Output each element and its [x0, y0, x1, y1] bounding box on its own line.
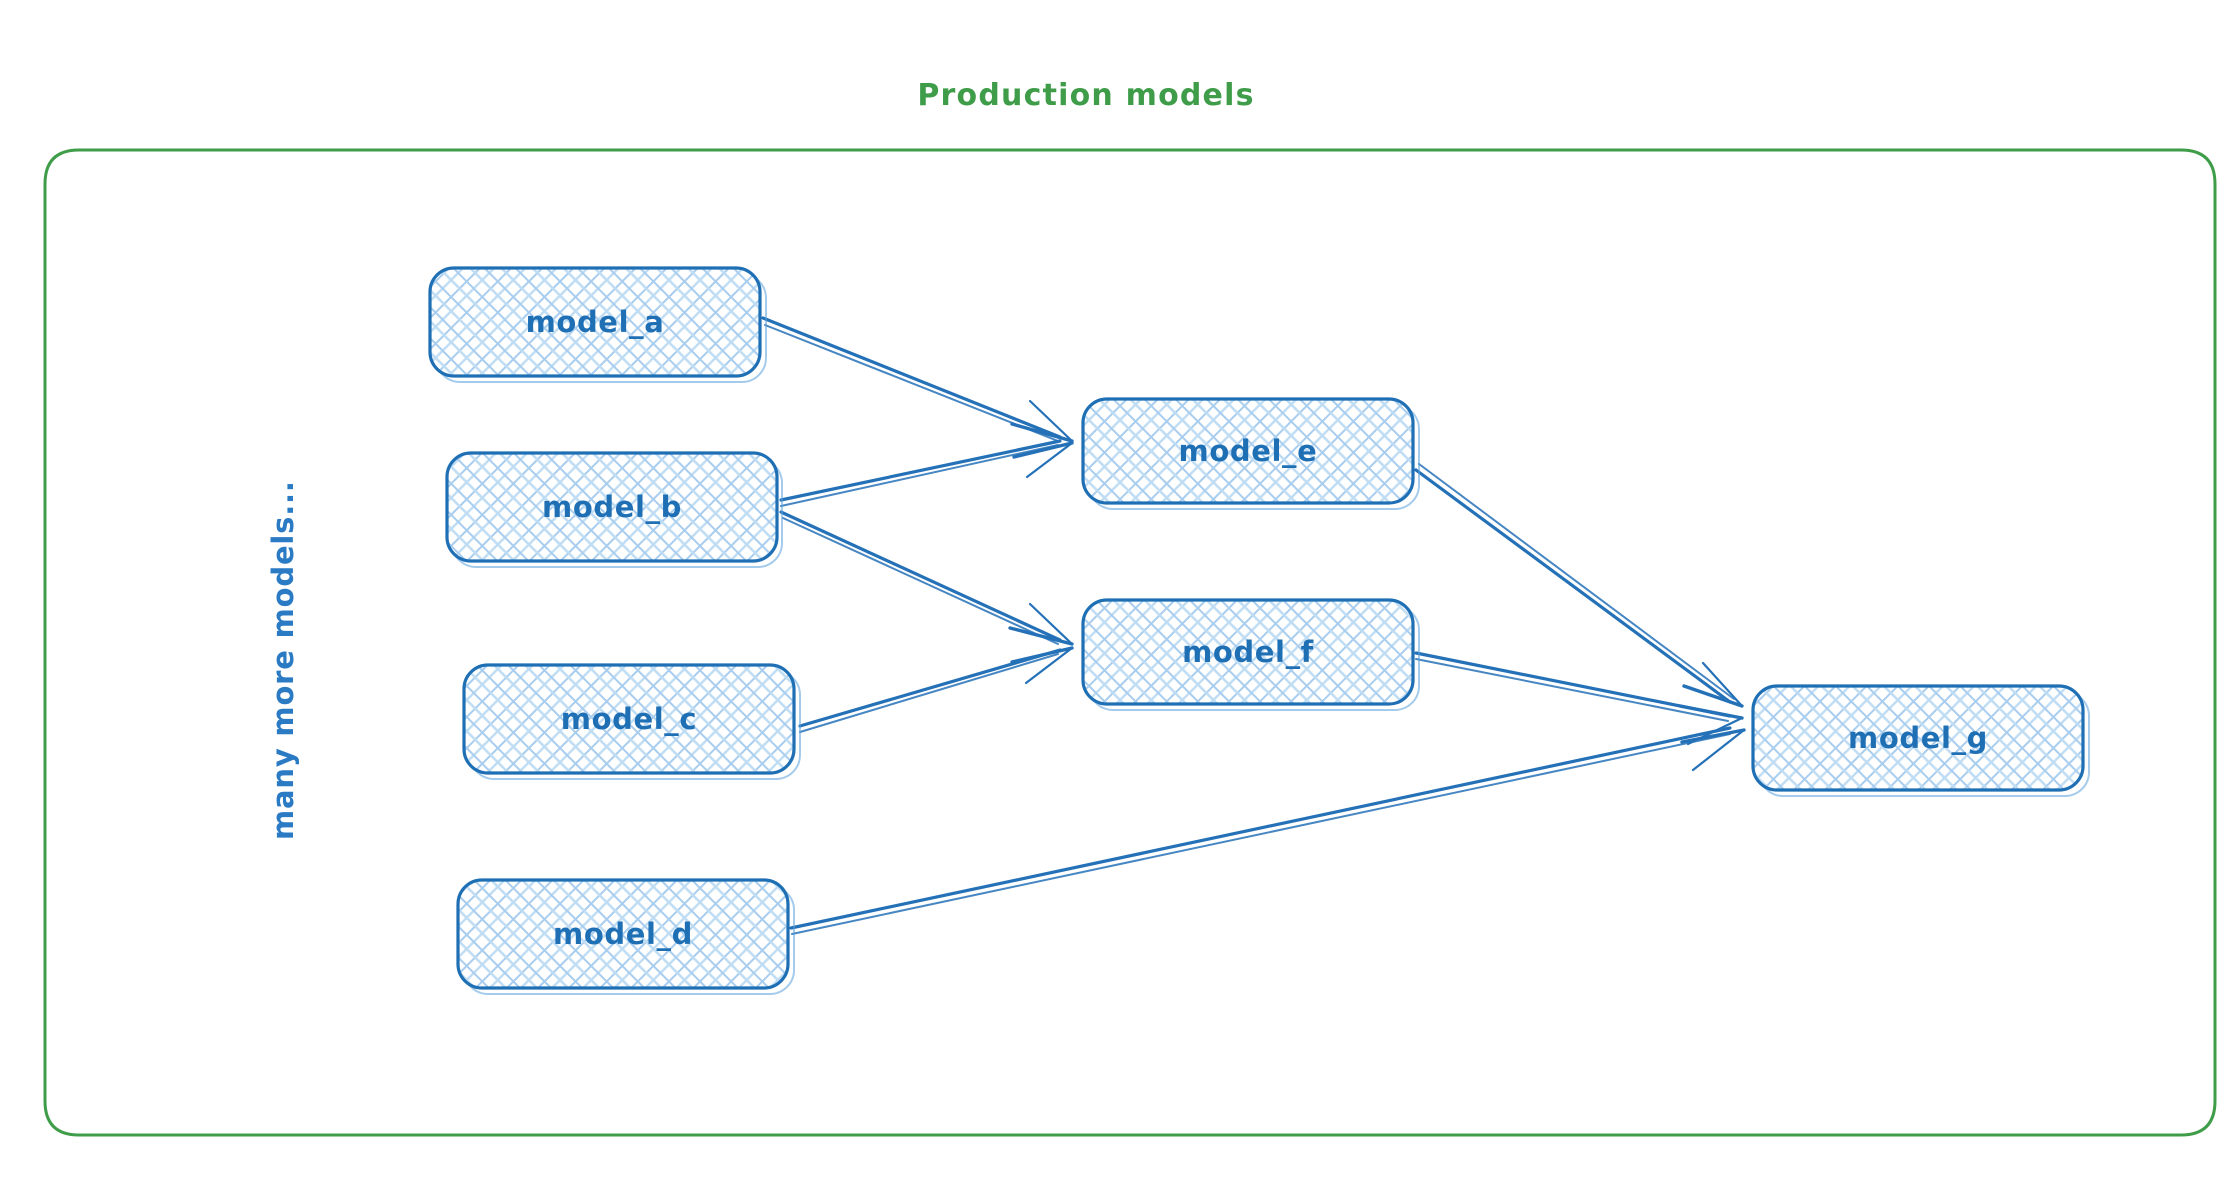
edge-model-d-to-model-g: [791, 728, 1744, 934]
node-model-a-label: model_a: [526, 305, 665, 339]
node-model-b-label: model_b: [542, 490, 682, 524]
group-title: Production models: [917, 78, 1254, 113]
node-model-d[interactable]: model_d: [458, 880, 794, 994]
edge-model-b-to-model-e: [781, 441, 1072, 506]
node-model-g-label: model_g: [1848, 721, 1988, 755]
nodes-layer: model_a model_b model_c model_d mode: [430, 268, 2089, 994]
node-model-g[interactable]: model_g: [1753, 686, 2089, 796]
node-model-a[interactable]: model_a: [430, 268, 766, 382]
many-more-models-note: many more models...: [266, 480, 300, 840]
edge-model-a-to-model-e: [763, 318, 1072, 441]
edge-model-c-to-model-f: [800, 648, 1072, 732]
node-model-b[interactable]: model_b: [447, 453, 782, 567]
edge-model-f-to-model-g: [1416, 653, 1742, 744]
node-model-e[interactable]: model_e: [1083, 399, 1419, 509]
production-models-diagram: Production models many more models...: [0, 0, 2240, 1188]
edge-model-b-to-model-f: [781, 512, 1072, 644]
node-model-c-label: model_c: [561, 702, 697, 736]
many-more-models-label: many more models...: [266, 480, 300, 840]
node-model-f[interactable]: model_f: [1083, 600, 1419, 710]
diagram-canvas: Production models many more models...: [0, 0, 2240, 1188]
node-model-d-label: model_d: [553, 917, 693, 951]
node-model-f-label: model_f: [1182, 635, 1314, 669]
node-model-e-label: model_e: [1179, 434, 1318, 468]
node-model-c[interactable]: model_c: [464, 665, 800, 779]
